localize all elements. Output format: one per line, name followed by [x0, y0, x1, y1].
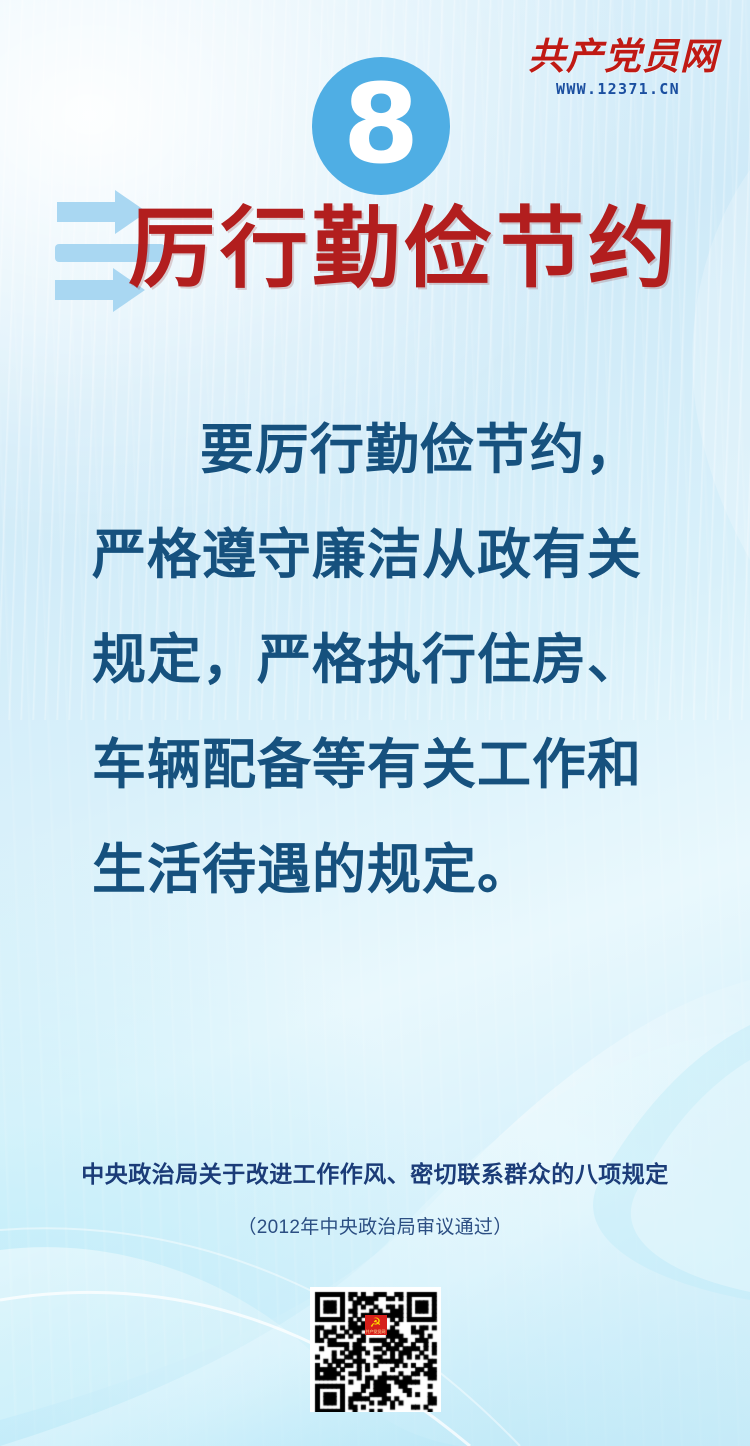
footer-regulation-subtitle: （2012年中央政治局审议通过）: [0, 1212, 750, 1239]
emblem-caption: 共产党员网: [365, 1330, 387, 1334]
poster-canvas: 共产党员网 WWW.12371.CN 8 厉行勤俭节约 要厉行勤俭节约， 严格遵…: [0, 0, 750, 1446]
party-emblem-icon: ☭ 共产党员网: [365, 1315, 387, 1335]
body-line: 生活待遇的规定。: [92, 818, 670, 923]
qr-code[interactable]: ☭ 共产党员网: [310, 1287, 441, 1412]
site-logo[interactable]: 共产党员网 WWW.12371.CN: [528, 38, 708, 108]
body-line: 要厉行勤俭节约，: [92, 398, 670, 503]
logo-url: WWW.12371.CN: [528, 80, 708, 98]
body-line: 规定，严格执行住房、: [92, 608, 670, 713]
logo-wordmark: 共产党员网: [528, 38, 708, 78]
rule-number: 8: [343, 69, 420, 179]
page-title: 厉行勤俭节约: [128, 194, 680, 304]
rule-number-badge: 8: [312, 57, 450, 195]
body-line: 车辆配备等有关工作和: [92, 713, 670, 818]
footer-regulation-title: 中央政治局关于改进工作作风、密切联系群众的八项规定: [0, 1155, 750, 1189]
body-line: 严格遵守廉洁从政有关: [92, 503, 670, 608]
qr-code-image: [310, 1287, 441, 1412]
hammer-sickle-glyph: ☭: [370, 1316, 382, 1329]
rule-body-text: 要厉行勤俭节约， 严格遵守廉洁从政有关 规定，严格执行住房、 车辆配备等有关工作…: [92, 398, 670, 923]
